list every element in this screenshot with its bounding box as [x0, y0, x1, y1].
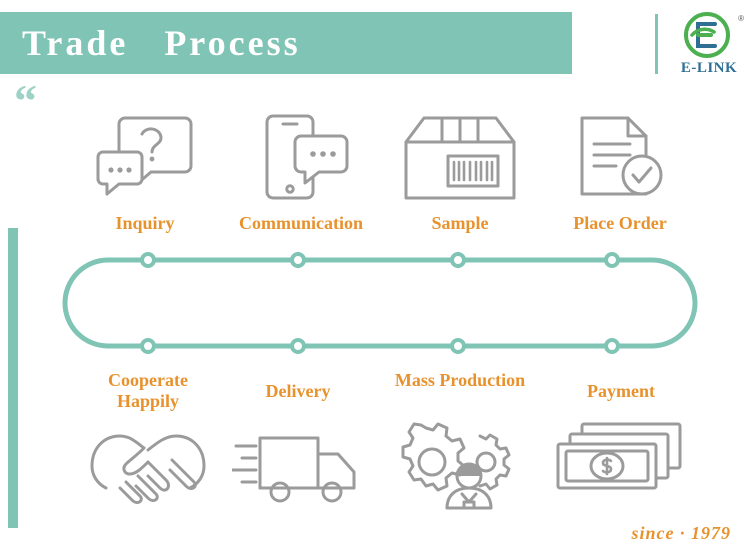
barcode-box-icon: [400, 112, 520, 204]
stage-label-place-order: Place Order: [545, 213, 695, 234]
delivery-truck-icon: [232, 424, 366, 508]
chat-bubbles-question-icon: [95, 110, 205, 205]
page-title: Trade Process: [22, 22, 301, 64]
brand-name: E-LINK: [672, 60, 746, 77]
registered-mark: ®: [738, 14, 744, 23]
handshake-icon: [86, 420, 210, 510]
brand-logo: ® E-LINK: [672, 12, 746, 84]
stage-label-communication: Communication: [215, 213, 387, 234]
left-accent-bar: [8, 228, 18, 528]
stage-label-inquiry: Inquiry: [80, 213, 210, 234]
since-label: since · 1979: [632, 523, 732, 544]
phone-chat-icon: [255, 110, 355, 205]
document-check-icon: [572, 110, 672, 205]
stage-label-delivery: Delivery: [230, 381, 366, 402]
logo-divider: [655, 14, 658, 74]
stage-label-sample: Sample: [395, 213, 525, 234]
e-link-mark-icon: [684, 12, 730, 58]
stage-label-payment: Payment: [548, 381, 694, 402]
quote-mark-icon: “: [14, 78, 37, 124]
banknotes-dollar-icon: [548, 420, 688, 504]
process-track: [60, 246, 700, 361]
stage-label-mass-production: Mass Production: [390, 370, 530, 391]
stage-label-cooperate-happily: Cooperate Happily: [78, 370, 218, 412]
gears-worker-icon: [394, 418, 518, 512]
